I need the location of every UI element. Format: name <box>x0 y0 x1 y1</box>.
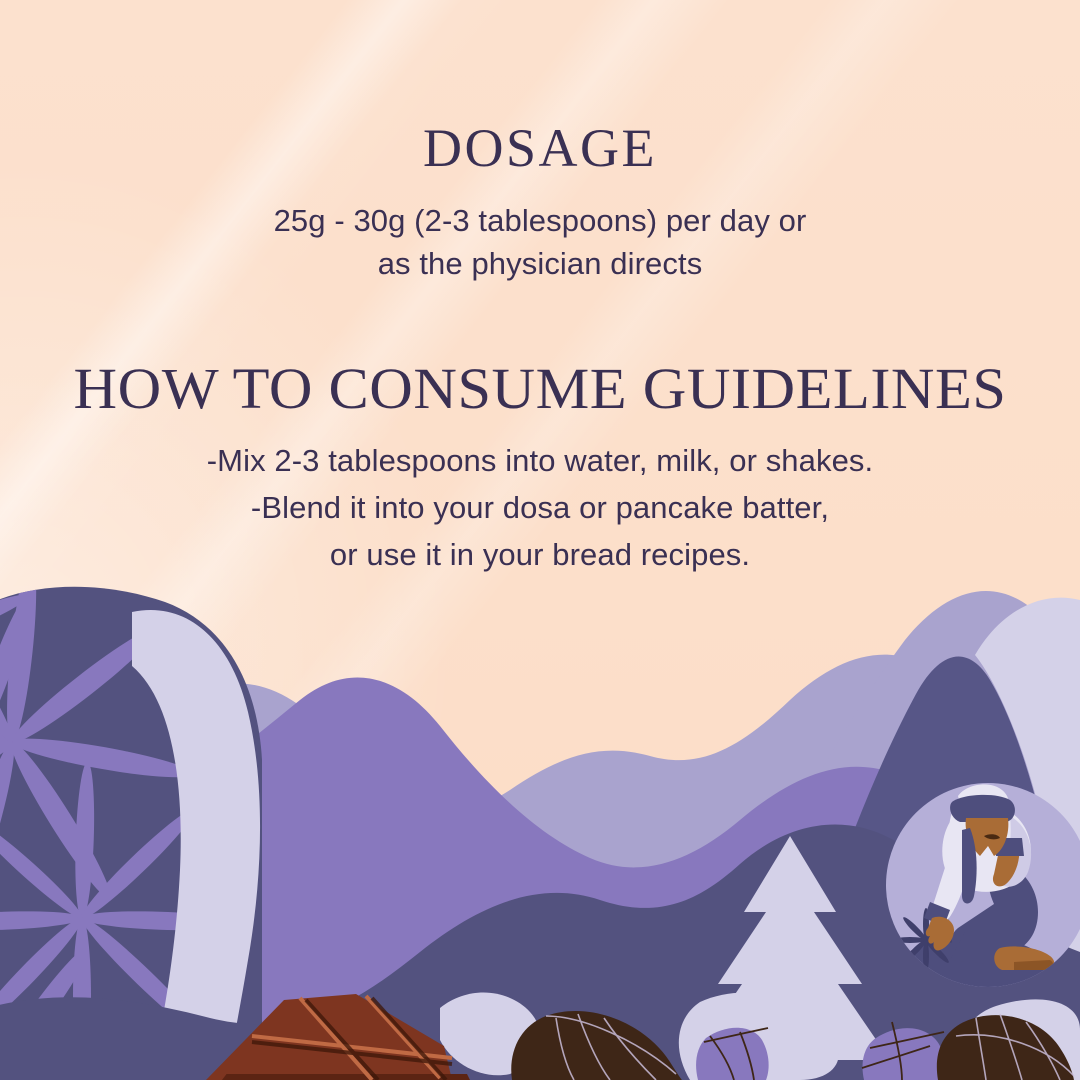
poster-canvas: DOSAGE 25g - 30g (2-3 tablespoons) per d… <box>0 0 1080 1080</box>
guidelines-body: -Mix 2-3 tablespoons into water, milk, o… <box>0 437 1080 578</box>
guidelines-line-1: -Mix 2-3 tablespoons into water, milk, o… <box>0 437 1080 484</box>
dosage-line-2: as the physician directs <box>0 243 1080 286</box>
dosage-line-1: 25g - 30g (2-3 tablespoons) per day or <box>0 200 1080 243</box>
guidelines-line-2: -Blend it into your dosa or pancake batt… <box>0 484 1080 531</box>
guidelines-title: HOW TO CONSUME GUIDELINES <box>0 360 1080 418</box>
dosage-body: 25g - 30g (2-3 tablespoons) per day or a… <box>0 200 1080 286</box>
guidelines-line-3: or use it in your bread recipes. <box>0 531 1080 578</box>
dosage-title: DOSAGE <box>0 121 1080 175</box>
farmer-turban-band <box>950 795 1015 822</box>
